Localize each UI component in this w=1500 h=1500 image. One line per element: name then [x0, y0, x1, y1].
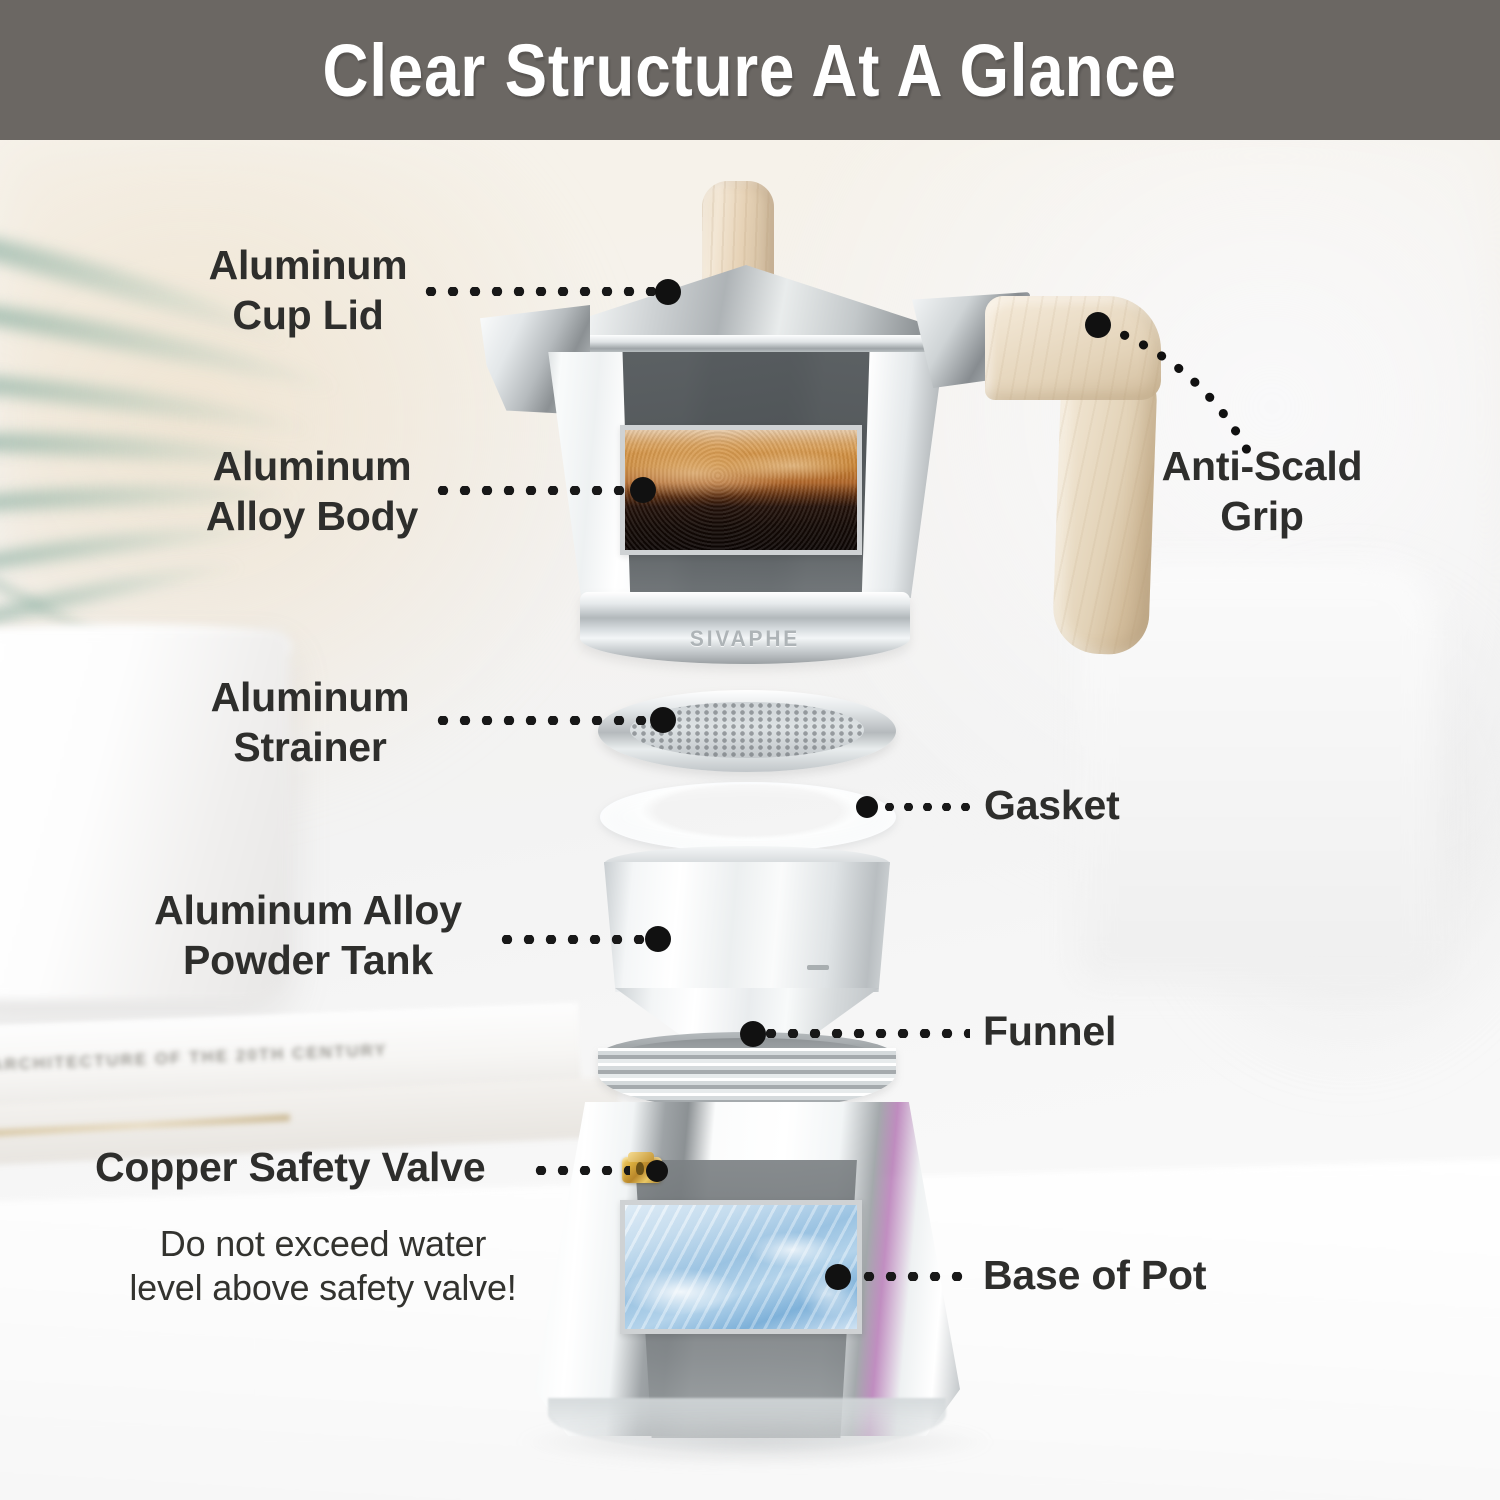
- callout-label-cup-lid: Aluminum Cup Lid: [200, 240, 416, 340]
- brand-logo-text: SIVAPHE: [588, 626, 902, 652]
- leader-dot-strainer: [650, 707, 676, 733]
- leader-dot-powder-tank: [645, 926, 671, 952]
- callout-label-safety-valve: Copper Safety Valve: [95, 1142, 485, 1192]
- leader-dot-gasket: [856, 796, 878, 818]
- coffee-crema-photo-inset: [620, 425, 862, 555]
- anti-scald-grip: [985, 296, 1161, 656]
- leader-gasket: [880, 803, 976, 811]
- leader-dot-funnel: [740, 1021, 766, 1047]
- infographic-canvas: ARCHITECTURE OF THE 20TH CENTURY Clear S…: [0, 0, 1500, 1500]
- callout-label-powder-tank: Aluminum Alloy Powder Tank: [139, 885, 477, 985]
- callout-label-base-of-pot: Base of Pot: [983, 1250, 1206, 1300]
- callout-label-safety-note: Do not exceed water level above safety v…: [118, 1222, 528, 1310]
- leader-strainer: [432, 716, 657, 725]
- callout-label-funnel: Funnel: [983, 1006, 1116, 1056]
- body-collar: SIVAPHE: [580, 592, 910, 664]
- callout-label-gasket: Gasket: [984, 780, 1120, 830]
- callout-label-strainer: Aluminum Strainer: [203, 672, 417, 772]
- leader-dot-cup-lid: [655, 279, 681, 305]
- gasket-ring: [600, 782, 896, 852]
- leader-base-of-pot: [858, 1272, 973, 1281]
- leader-powder-tank: [496, 935, 651, 944]
- leader-dot-base-of-pot: [825, 1264, 851, 1290]
- leader-safety-valve: [530, 1166, 630, 1175]
- callout-label-anti-scald: Anti-Scald Grip: [1148, 441, 1376, 541]
- leader-dot-safety-valve: [646, 1160, 668, 1182]
- leader-alloy-body: [432, 486, 637, 495]
- aluminum-alloy-powder-tank: [604, 862, 890, 992]
- leader-cup-lid: [420, 287, 670, 296]
- water-photo-inset: [620, 1200, 862, 1334]
- header-banner: Clear Structure At A Glance: [0, 0, 1500, 140]
- leader-funnel: [760, 1029, 970, 1038]
- callout-label-alloy-body: Aluminum Alloy Body: [196, 441, 428, 541]
- leader-dot-anti-scald: [1085, 312, 1111, 338]
- pot-ground-shadow: [520, 1418, 990, 1466]
- page-title: Clear Structure At A Glance: [323, 28, 1177, 113]
- powder-tank-vent-hole: [807, 965, 829, 970]
- leader-dot-alloy-body: [630, 477, 656, 503]
